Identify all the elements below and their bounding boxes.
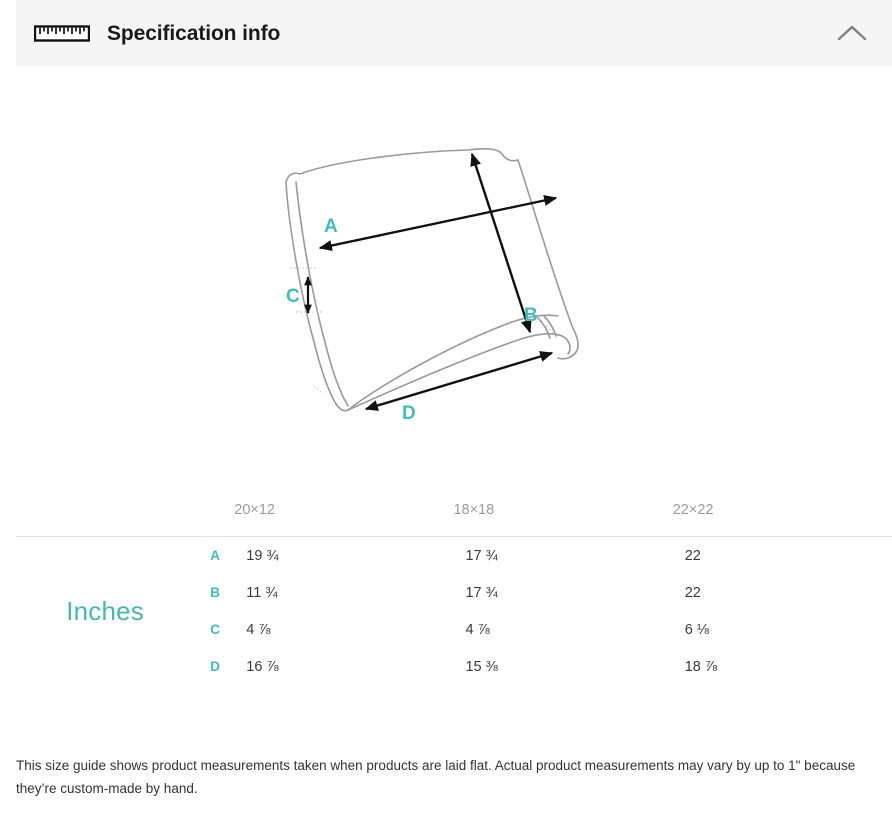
cell-b-22x22: 22	[673, 574, 892, 611]
dimension-label-c: C	[286, 286, 300, 307]
dimension-label-b: B	[524, 305, 538, 326]
size-guide-disclaimer: This size guide shows product measuremen…	[16, 754, 874, 801]
unit-label: Inches	[0, 537, 210, 685]
dimension-arrow-a	[320, 198, 556, 248]
collapse-toggle-button[interactable]	[830, 11, 874, 55]
cell-d-20x12: 16 ⅞	[234, 648, 453, 685]
dimension-arrow-b	[472, 154, 530, 332]
cell-c-22x22: 6 ⅛	[673, 611, 892, 648]
row-key-c: C	[210, 611, 234, 648]
cell-b-20x12: 11 ¾	[234, 574, 453, 611]
cell-a-22x22: 22	[673, 537, 892, 574]
unit-header-cell	[0, 486, 210, 536]
column-header-2: 22×22	[673, 486, 892, 536]
column-header-1: 18×18	[453, 486, 672, 536]
row-key-d: D	[210, 648, 234, 685]
cell-a-18x18: 17 ¾	[453, 537, 672, 574]
ruler-icon	[34, 25, 90, 42]
row-key-a: A	[210, 537, 234, 574]
size-guide-table: 20×12 18×18 22×22 Inches A 19 ¾ 17 ¾ 22 …	[0, 486, 892, 685]
specification-info-header[interactable]: Specification info	[16, 0, 892, 66]
dimension-label-a: A	[324, 216, 338, 237]
dimension-label-d: D	[402, 403, 416, 424]
dimension-arrow-d	[366, 353, 552, 409]
specification-table: 20×12 18×18 22×22 Inches A 19 ¾ 17 ¾ 22 …	[0, 486, 892, 685]
page-title: Specification info	[107, 23, 280, 44]
cell-d-22x22: 18 ⅞	[673, 648, 892, 685]
table-header-row: 20×12 18×18 22×22	[0, 486, 892, 536]
table-row: Inches A 19 ¾ 17 ¾ 22	[0, 537, 892, 574]
pillow-diagram-container: A B C D	[0, 66, 892, 486]
column-header-0: 20×12	[234, 486, 453, 536]
cell-c-18x18: 4 ⅞	[453, 611, 672, 648]
cell-c-20x12: 4 ⅞	[234, 611, 453, 648]
pillow-dimension-diagram: A B C D	[262, 136, 642, 456]
cell-a-20x12: 19 ¾	[234, 537, 453, 574]
cell-b-18x18: 17 ¾	[453, 574, 672, 611]
cell-d-18x18: 15 ⅜	[453, 648, 672, 685]
row-key-b: B	[210, 574, 234, 611]
key-header-cell	[210, 486, 234, 536]
chevron-up-icon	[836, 23, 868, 43]
